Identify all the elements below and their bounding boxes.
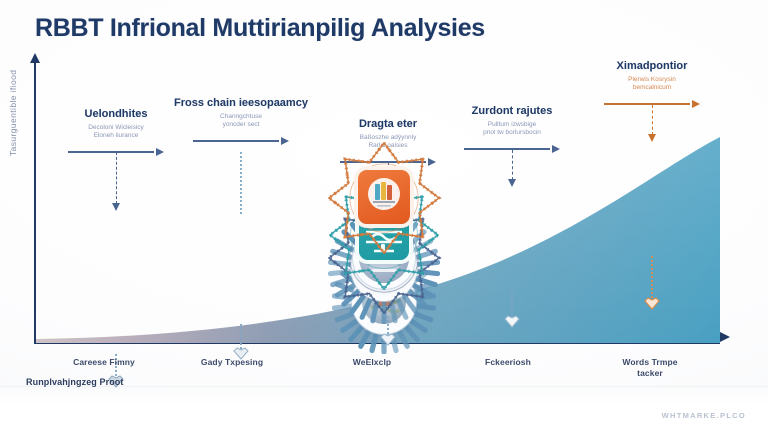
milestone-drop-1 — [116, 152, 117, 204]
watermark-label: WHTMARKE.PLCO — [662, 411, 746, 420]
curve-marker-5 — [644, 294, 660, 310]
milestone-column-4[interactable]: Zurdont rajutes Pulltum izwsbigepnol tw … — [437, 105, 587, 154]
page-title: RBBT Infrional Muttirianpilig Analysies — [35, 14, 485, 43]
extra-caption: Runplvahjngzeg Proot — [26, 377, 124, 387]
milestone-subtitle: Channgchtuseyoncder sect — [166, 113, 316, 131]
curve-marker-4 — [504, 312, 520, 328]
y-axis-arrowhead — [30, 53, 40, 63]
milestone-arrow-right — [193, 136, 289, 146]
footer-shade — [0, 386, 768, 432]
milestone-title: Fross chain ieesopaamcy — [166, 97, 316, 110]
milestone-subtitle: Plerwis Kosrysinbemcalnicum — [577, 76, 727, 94]
y-axis-label: Tasurguentible ifiood — [8, 70, 18, 156]
milestone-drop-5 — [652, 105, 653, 135]
milestone-title: Zurdont rajutes — [437, 105, 587, 118]
milestone-caption-5: Words Trmpe tacker — [565, 357, 735, 379]
arrow-tip-icon — [648, 134, 656, 142]
books-glyph — [358, 170, 410, 224]
milestone-subtitle: Pulltum izwsbigepnol tw borlursbocin — [437, 121, 587, 139]
milestone-title: Ximadpontior — [577, 60, 727, 73]
milestone-column-5[interactable]: Ximadpontior Plerwis Kosrysinbemcalnicum — [577, 60, 727, 109]
milestone-badge-5[interactable] — [326, 140, 442, 256]
milestone-drop-4 — [512, 150, 513, 180]
infographic-canvas: RBBT Infrional Muttirianpilig Analysies … — [0, 0, 768, 432]
curve-marker-3 — [380, 330, 396, 346]
arrow-tip-icon — [508, 179, 516, 187]
milestone-drop-2 — [240, 152, 242, 214]
milestone-column-2[interactable]: Fross chain ieesopaamcy Channgchtuseyonc… — [166, 97, 316, 146]
books-badge-icon[interactable] — [358, 170, 410, 224]
arrow-tip-icon — [112, 203, 120, 211]
